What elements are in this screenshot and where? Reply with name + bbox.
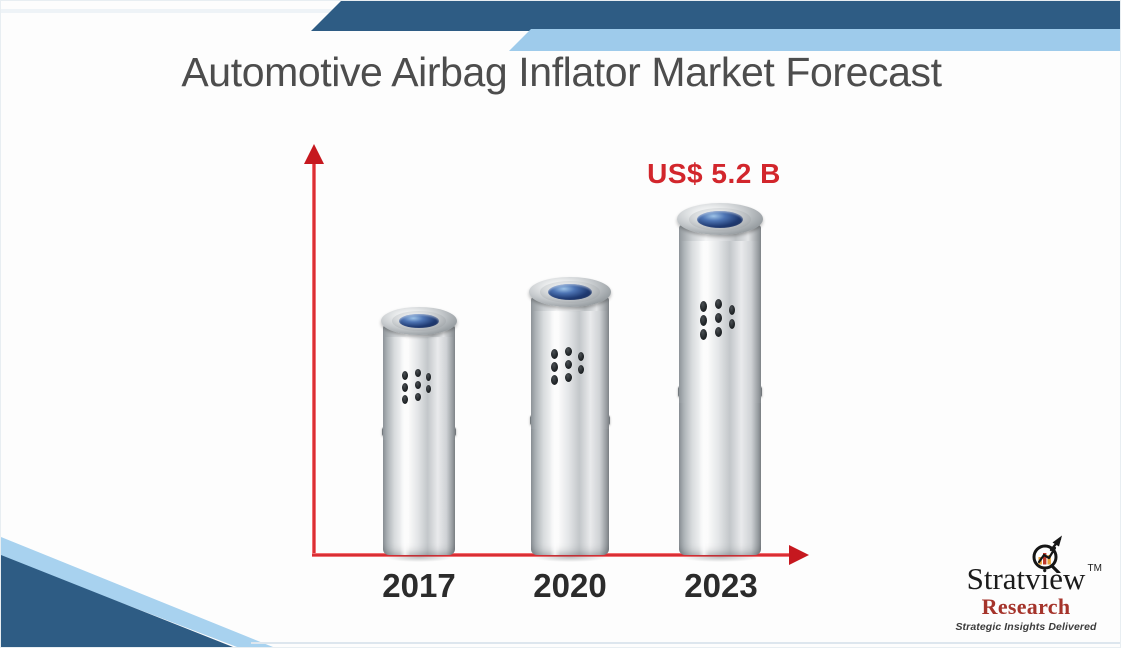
- value-axis-arrow-icon: [304, 144, 324, 164]
- vent-hole: [578, 365, 584, 374]
- logo-trademark: TM: [1088, 563, 1102, 574]
- year-label-2023: 2023: [646, 567, 796, 605]
- vent-hole: [578, 352, 584, 361]
- bar-inflator-2023: [679, 203, 761, 555]
- vent-hole: [551, 349, 558, 359]
- inflator-lower-barrel: [531, 419, 609, 555]
- bar-inflator-2017: [383, 307, 455, 555]
- vent-hole: [700, 315, 707, 326]
- bottom-divider-rule: [251, 642, 1121, 644]
- page-title: Automotive Airbag Inflator Market Foreca…: [1, 49, 1121, 96]
- bar-inflator-2020: [531, 277, 609, 555]
- vent-hole: [715, 327, 722, 337]
- vent-hole: [415, 381, 421, 389]
- vent-hole: [426, 373, 431, 381]
- stratview-research-logo: Stratview TM Research Strategic Insights…: [942, 533, 1110, 637]
- logo-wordmark: Stratview: [942, 561, 1110, 597]
- inflator-cap-core: [697, 211, 743, 228]
- vent-hole: [402, 395, 408, 404]
- top-dark-blue-band: [1, 1, 1121, 31]
- vent-hole: [551, 362, 558, 372]
- inflator-vent-holes: [698, 299, 742, 347]
- value-axis-line: [312, 159, 316, 557]
- top-light-blue-band: [1, 29, 1121, 51]
- vent-hole: [565, 360, 572, 369]
- logo-tagline: Strategic Insights Delivered: [942, 621, 1110, 633]
- vent-hole: [715, 299, 722, 309]
- year-label-2020: 2020: [495, 567, 645, 605]
- top-faint-stripe: [1, 9, 361, 13]
- inflator-lower-barrel: [383, 430, 455, 555]
- barrel-highlight: [550, 419, 560, 555]
- vent-hole: [729, 305, 735, 315]
- vent-hole: [700, 329, 707, 340]
- vent-hole: [402, 383, 408, 392]
- year-label-2017: 2017: [344, 567, 494, 605]
- bottom-dark-blue-triangle: [1, 537, 301, 647]
- vent-hole: [729, 319, 735, 329]
- inflator-vent-holes: [400, 369, 438, 409]
- value-callout-label: US$ 5.2 B: [614, 158, 814, 190]
- vent-hole: [402, 371, 408, 380]
- vent-hole: [700, 301, 707, 312]
- inflator-cap-core: [548, 284, 592, 300]
- vent-hole: [565, 373, 572, 382]
- vent-hole: [426, 385, 431, 393]
- year-axis-arrow-icon: [789, 545, 809, 565]
- slide-canvas: Automotive Airbag Inflator Market Foreca…: [0, 0, 1121, 648]
- logo-subword: Research: [942, 594, 1110, 620]
- vent-hole: [565, 347, 572, 356]
- inflator-vent-holes: [549, 347, 591, 391]
- inflator-cap-core: [399, 314, 439, 328]
- inflator-lower-barrel: [679, 390, 761, 555]
- vent-hole: [551, 375, 558, 385]
- barrel-highlight: [699, 390, 710, 555]
- vent-hole: [715, 313, 722, 323]
- barrel-highlight: [400, 430, 409, 555]
- vent-hole: [415, 369, 421, 377]
- vent-hole: [415, 393, 421, 401]
